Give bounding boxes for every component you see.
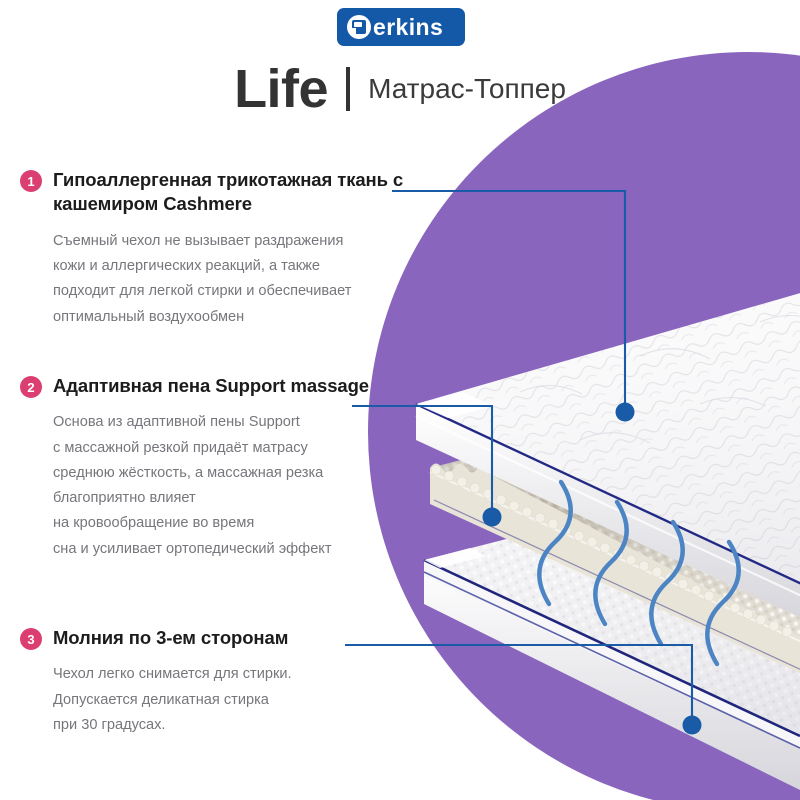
brand-logo-text: erkins	[373, 16, 443, 39]
feature-block-3: 3 Молния по 3-ем сторонам Чехол легко сн…	[20, 626, 420, 738]
feature-3-title: Молния по 3-ем сторонам	[53, 626, 288, 650]
title-divider	[346, 67, 350, 111]
feature-3-header: 3 Молния по 3-ем сторонам	[20, 626, 420, 650]
feature-1-title: Гипоаллергенная трикотажная ткань с каше…	[53, 168, 420, 217]
product-subtitle: Матрас-Топпер	[368, 75, 566, 103]
page-title: Life Матрас-Топпер	[0, 62, 800, 116]
feature-3-badge: 3	[20, 628, 42, 650]
feature-1-body: Съемный чехол не вызывает раздражения ко…	[53, 229, 420, 330]
feature-block-1: 1 Гипоаллергенная трикотажная ткань с ка…	[20, 168, 420, 330]
product-name: Life	[234, 62, 328, 116]
feature-2-header: 2 Адаптивная пена Support massage	[20, 374, 420, 398]
feature-2-body: Основа из адаптивной пены Support с масс…	[53, 410, 420, 561]
mattress-icon	[347, 15, 371, 39]
feature-1-header: 1 Гипоаллергенная трикотажная ткань с ка…	[20, 168, 420, 217]
feature-2-badge: 2	[20, 376, 42, 398]
feature-2-title: Адаптивная пена Support massage	[53, 374, 369, 398]
infographic-canvas: erkins Life Матрас-Топпер 1 Гипоаллерген…	[0, 0, 800, 800]
brand-logo[interactable]: erkins	[337, 8, 465, 46]
feature-3-body: Чехол легко снимается для стирки. Допуск…	[53, 662, 420, 738]
feature-block-2: 2 Адаптивная пена Support massage Основа…	[20, 374, 420, 562]
feature-1-badge: 1	[20, 170, 42, 192]
